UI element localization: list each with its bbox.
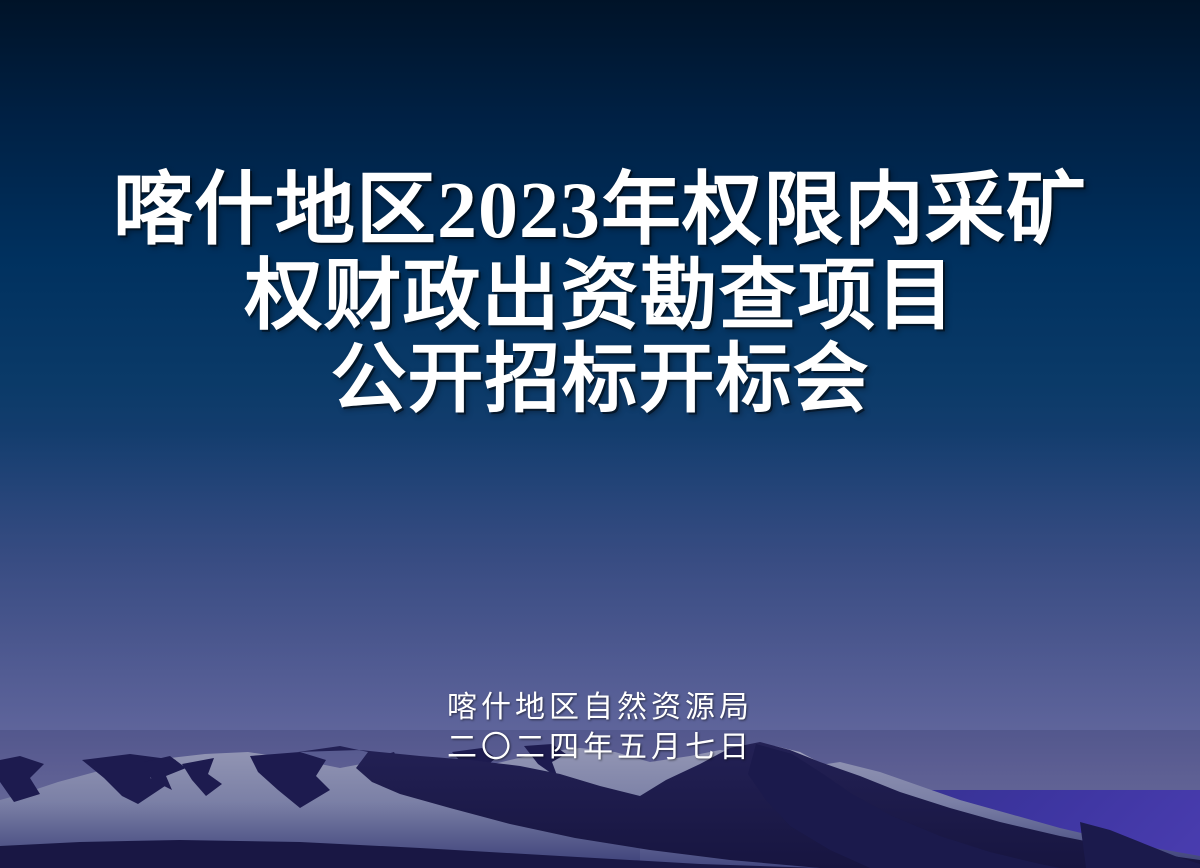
title-line-1: 喀什地区2023年权限内采矿 [24, 168, 1176, 254]
sky-haze-overlay [0, 430, 1200, 730]
mountain-dark-spur-far-right [1080, 822, 1200, 868]
presentation-title-slide: 喀什地区2023年权限内采矿 权财政出资勘查项目 公开招标开标会 喀什地区自然资… [0, 0, 1200, 868]
title-line-2: 权财政出资勘查项目 [24, 254, 1176, 338]
page-title: 喀什地区2023年权限内采矿 权财政出资勘查项目 公开招标开标会 [0, 168, 1200, 421]
subtitle: 喀什地区自然资源局 二〇二四年五月七日 [0, 688, 1200, 768]
subtitle-date: 二〇二四年五月七日 [0, 728, 1200, 768]
subtitle-organization: 喀什地区自然资源局 [0, 688, 1200, 728]
title-line-3: 公开招标开标会 [24, 339, 1176, 421]
